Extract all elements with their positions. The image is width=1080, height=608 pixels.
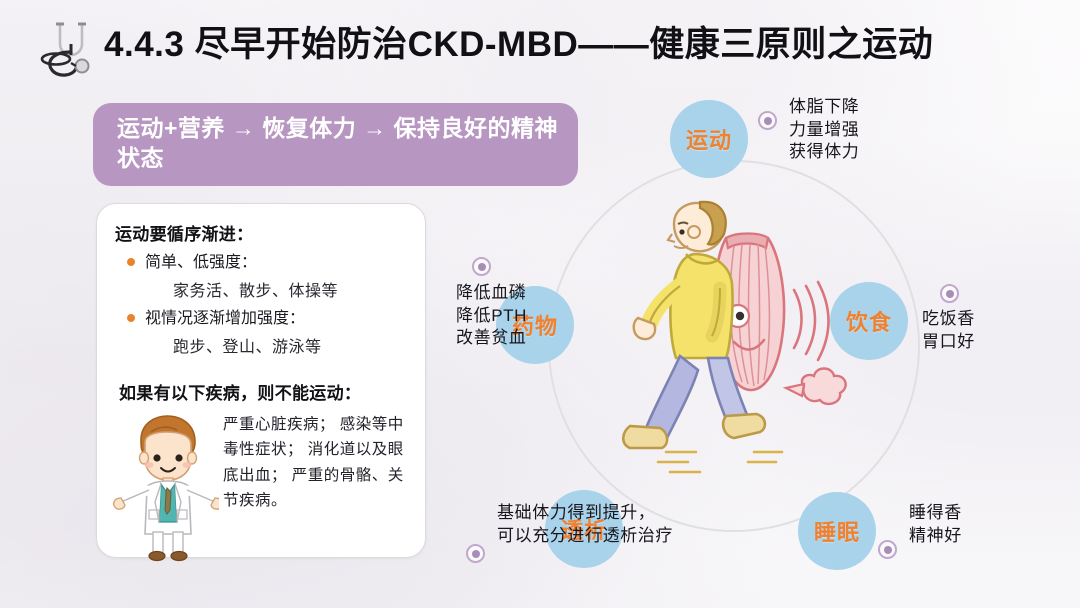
cartoon-doctor-icon — [111, 410, 219, 562]
annotation-exercise: 体脂下降 力量增强 获得体力 — [758, 96, 859, 164]
annotation-sleep: 睡得香 精神好 — [878, 502, 962, 559]
contraindication-section: 严重心脏疾病； 感染等中毒性症状； 消化道以及眼底出血； 严重的骨骼、关节疾病。 — [115, 410, 411, 570]
annotation-bullet-icon — [472, 257, 491, 276]
bullet-dot-icon — [127, 258, 135, 266]
annotation-drug: 降低血磷 降低PTH 改善贫血 — [456, 257, 527, 350]
progressive-exercise-heading: 运动要循序渐进： — [115, 220, 411, 245]
health-cycle-diagram: 运动 药物 饮食 透析 睡眠 体脂下降 力量增强 获得体力 降低血磷 降低PTH… — [430, 72, 1080, 608]
annotation-text: 睡得香 精神好 — [909, 502, 962, 547]
bullet-label: 简单、低强度： — [145, 251, 257, 274]
annotation-text: 降低血磷 降低PTH 改善贫血 — [456, 282, 527, 350]
annotation-text: 基础体力得到提升， 可以充分进行透析治疗 — [497, 502, 673, 547]
bullet-label: 视情况逐渐增加强度： — [145, 307, 305, 330]
bullet-detail: 家务活、散步、体操等 — [115, 277, 411, 301]
contraindication-heading: 如果有以下疾病，则不能运动： — [115, 379, 411, 404]
annotation-bullet-icon — [466, 544, 485, 563]
contraindication-list: 严重心脏疾病； 感染等中毒性症状； 消化道以及眼底出血； 严重的骨骼、关节疾病。 — [223, 412, 411, 512]
page-title: 4.4.3 尽早开始防治CKD-MBD——健康三原则之运动 — [104, 16, 933, 67]
annotation-bullet-icon — [878, 540, 897, 559]
annotation-text: 体脂下降 力量增强 获得体力 — [789, 96, 859, 164]
list-item: 简单、低强度： — [115, 251, 411, 274]
diagram-node-diet[interactable]: 饮食 — [830, 282, 908, 360]
diagram-node-sleep[interactable]: 睡眠 — [798, 492, 876, 570]
annotation-bullet-icon — [940, 284, 959, 303]
exercise-guidance-card: 运动要循序渐进： 简单、低强度： 家务活、散步、体操等 视情况逐渐增加强度： 跑… — [96, 203, 426, 558]
diagram-node-label: 运动 — [686, 123, 732, 155]
diagram-node-label: 睡眠 — [814, 515, 860, 547]
annotation-dialysis: 基础体力得到提升， 可以充分进行透析治疗 — [466, 502, 673, 563]
progressive-exercise-section: 运动要循序渐进： 简单、低强度： 家务活、散步、体操等 视情况逐渐增加强度： 跑… — [115, 220, 411, 357]
diagram-node-label: 饮食 — [846, 305, 892, 337]
list-item: 视情况逐渐增加强度： — [115, 307, 411, 330]
annotation-diet: 吃饭香 胃口好 — [922, 284, 975, 353]
bullet-dot-icon — [127, 314, 135, 322]
annotation-bullet-icon — [758, 111, 777, 130]
bullet-detail: 跑步、登山、游泳等 — [115, 333, 411, 357]
diagram-node-exercise[interactable]: 运动 — [670, 100, 748, 178]
annotation-text: 吃饭香 胃口好 — [922, 308, 975, 353]
stethoscope-icon — [30, 14, 100, 84]
